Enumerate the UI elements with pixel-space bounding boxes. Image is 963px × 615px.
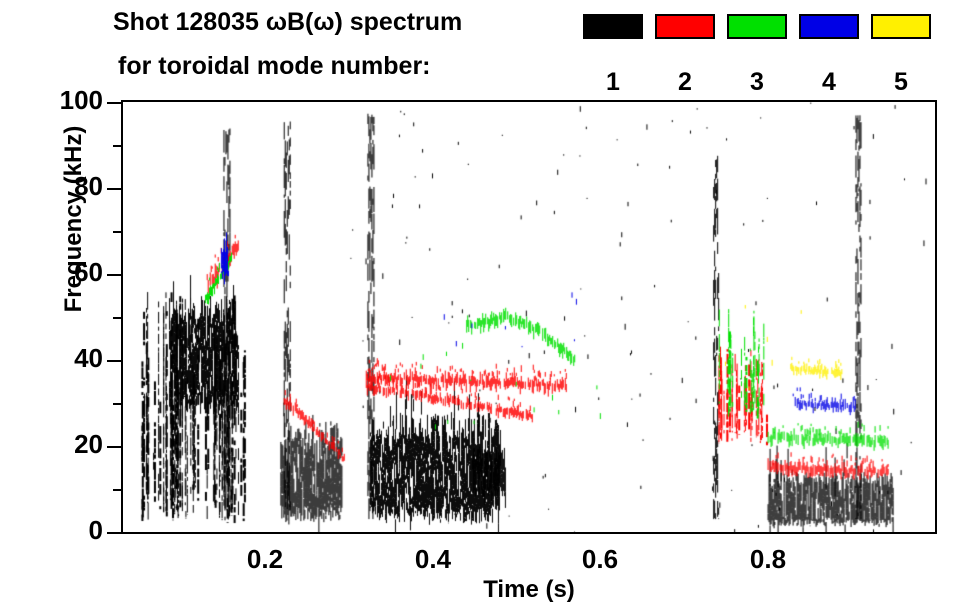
legend: 12345 bbox=[583, 0, 943, 92]
legend-swatch-n3 bbox=[727, 14, 787, 39]
legend-label-n3: 3 bbox=[727, 68, 787, 97]
x-tick-label-0.2: 0.2 bbox=[235, 544, 295, 575]
legend-label-n4: 4 bbox=[799, 68, 859, 97]
y-tick-label-100: 100 bbox=[60, 85, 103, 116]
y-tick-40 bbox=[107, 360, 121, 362]
page-title: Shot 128035 ωB(ω) spectrum bbox=[113, 8, 462, 37]
legend-swatch-n4 bbox=[799, 14, 859, 39]
y-tick-30 bbox=[113, 403, 121, 405]
legend-item-n5: 5 bbox=[871, 14, 931, 39]
y-tick-50 bbox=[113, 317, 121, 319]
legend-item-n4: 4 bbox=[799, 14, 859, 39]
legend-swatch-n2 bbox=[655, 14, 715, 39]
legend-label-n2: 2 bbox=[655, 68, 715, 97]
y-axis-label: Frequency (kHz) bbox=[60, 99, 88, 339]
y-tick-70 bbox=[113, 231, 121, 233]
legend-item-n1: 1 bbox=[583, 14, 643, 39]
y-tick-0 bbox=[107, 532, 121, 534]
legend-swatch-n1 bbox=[583, 14, 643, 39]
x-tick-label-0.8: 0.8 bbox=[738, 544, 798, 575]
x-axis-label: Time (s) bbox=[121, 576, 937, 604]
y-tick-label-40: 40 bbox=[74, 343, 103, 374]
legend-label-n5: 5 bbox=[871, 68, 931, 97]
spectrogram-canvas bbox=[123, 102, 935, 532]
y-tick-90 bbox=[113, 145, 121, 147]
y-tick-20 bbox=[107, 446, 121, 448]
x-tick-label-0.6: 0.6 bbox=[570, 544, 630, 575]
y-tick-label-60: 60 bbox=[74, 257, 103, 288]
x-tick-label-0.4: 0.4 bbox=[403, 544, 463, 575]
legend-item-n3: 3 bbox=[727, 14, 787, 39]
legend-swatch-n5 bbox=[871, 14, 931, 39]
spectrogram-figure: Shot 128035 ωB(ω) spectrum for toroidal … bbox=[0, 0, 963, 615]
y-tick-100 bbox=[107, 102, 121, 104]
y-tick-60 bbox=[107, 274, 121, 276]
title-subline: for toroidal mode number: bbox=[118, 52, 431, 81]
plot-area bbox=[121, 100, 937, 534]
y-tick-label-0: 0 bbox=[89, 515, 103, 546]
y-tick-80 bbox=[107, 188, 121, 190]
legend-label-n1: 1 bbox=[583, 68, 643, 97]
legend-item-n2: 2 bbox=[655, 14, 715, 39]
y-tick-label-20: 20 bbox=[74, 429, 103, 460]
y-tick-10 bbox=[113, 489, 121, 491]
y-tick-label-80: 80 bbox=[74, 171, 103, 202]
